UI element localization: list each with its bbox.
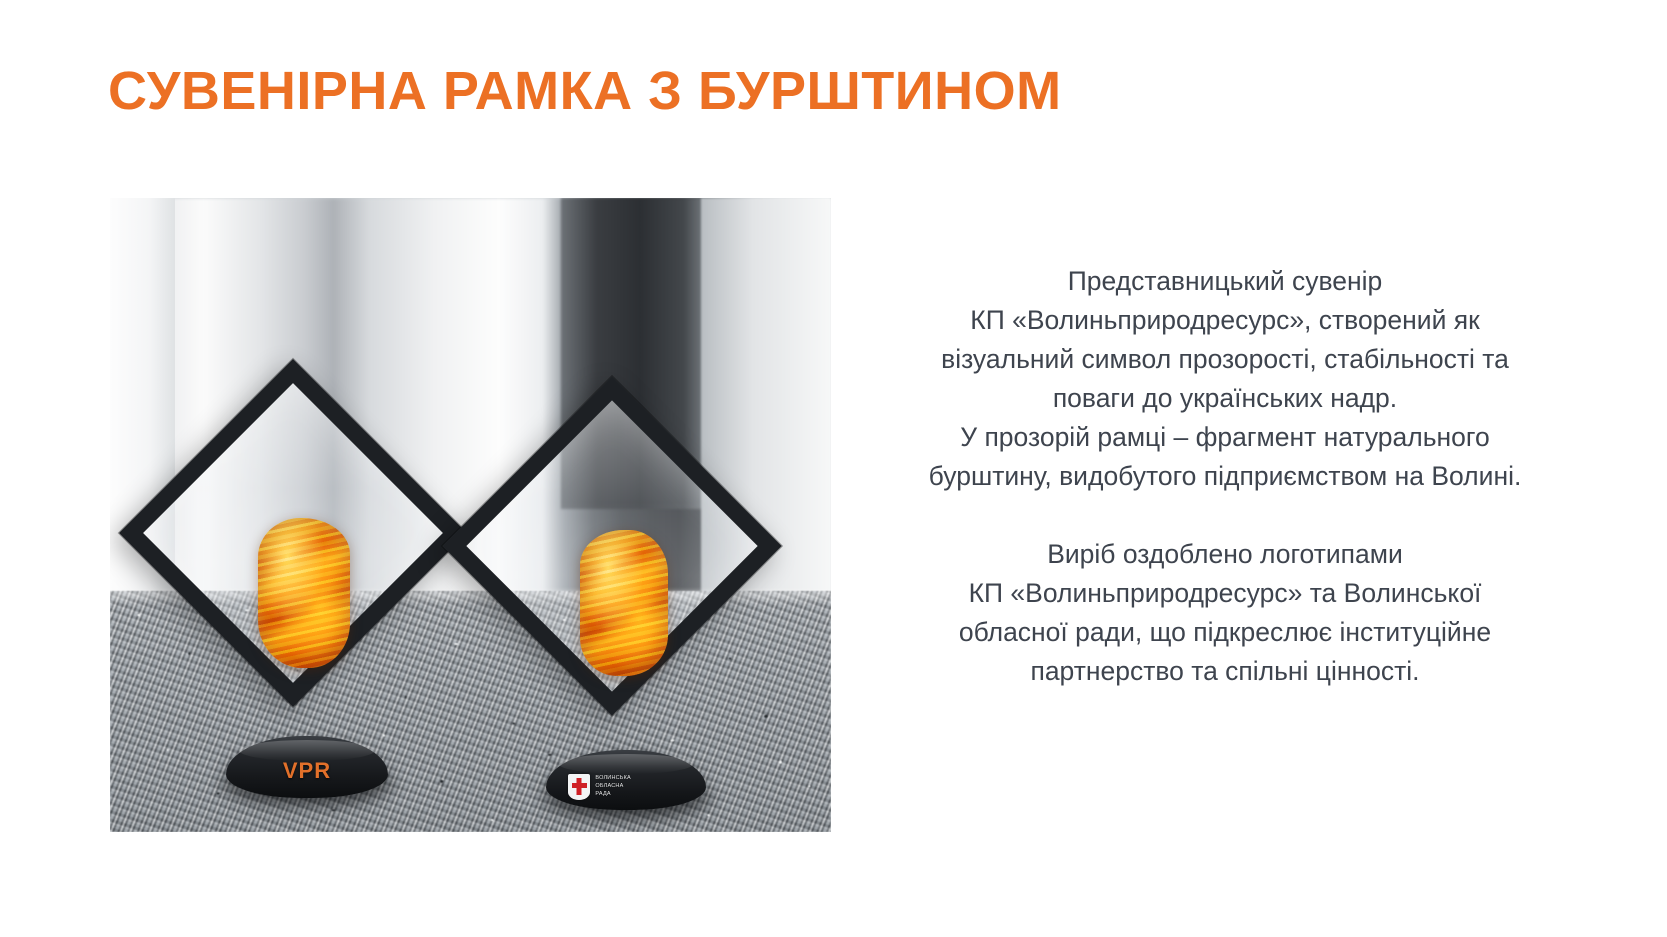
amber-texture-left	[258, 518, 350, 668]
description-paragraph-1: Представницький сувенір КП «Волиньприрод…	[880, 262, 1570, 496]
description-paragraph-2: Виріб оздоблено логотипами КП «Волиньпри…	[880, 535, 1570, 691]
frame-base-left: VPR	[226, 736, 388, 798]
volyn-council-logo: ВОЛИНСЬКА ОБЛАСНА РАДА	[568, 774, 631, 800]
souvenir-frame-right: ВОЛИНСЬКА ОБЛАСНА РАДА	[440, 374, 800, 832]
page-title: СУВЕНІРНА РАМКА З БУРШТИНОМ	[108, 62, 1062, 121]
frame-base-right: ВОЛИНСЬКА ОБЛАСНА РАДА	[546, 750, 706, 810]
amber-texture-right	[580, 530, 668, 676]
product-photo: VPR ВОЛИНСЬКА ОБЛАСНА РАДА	[110, 198, 831, 832]
base-highlight-right	[559, 754, 693, 774]
amber-specimen-left	[258, 518, 350, 668]
volyn-crest-icon	[568, 774, 590, 800]
amber-specimen-right	[580, 530, 668, 676]
volyn-council-label: ВОЛИНСЬКА ОБЛАСНА РАДА	[595, 775, 631, 799]
vpr-logo-wordmark: VPR	[226, 758, 388, 784]
description-block: Представницький сувенір КП «Волиньприрод…	[880, 262, 1570, 691]
souvenir-frame-left: VPR	[122, 350, 482, 830]
